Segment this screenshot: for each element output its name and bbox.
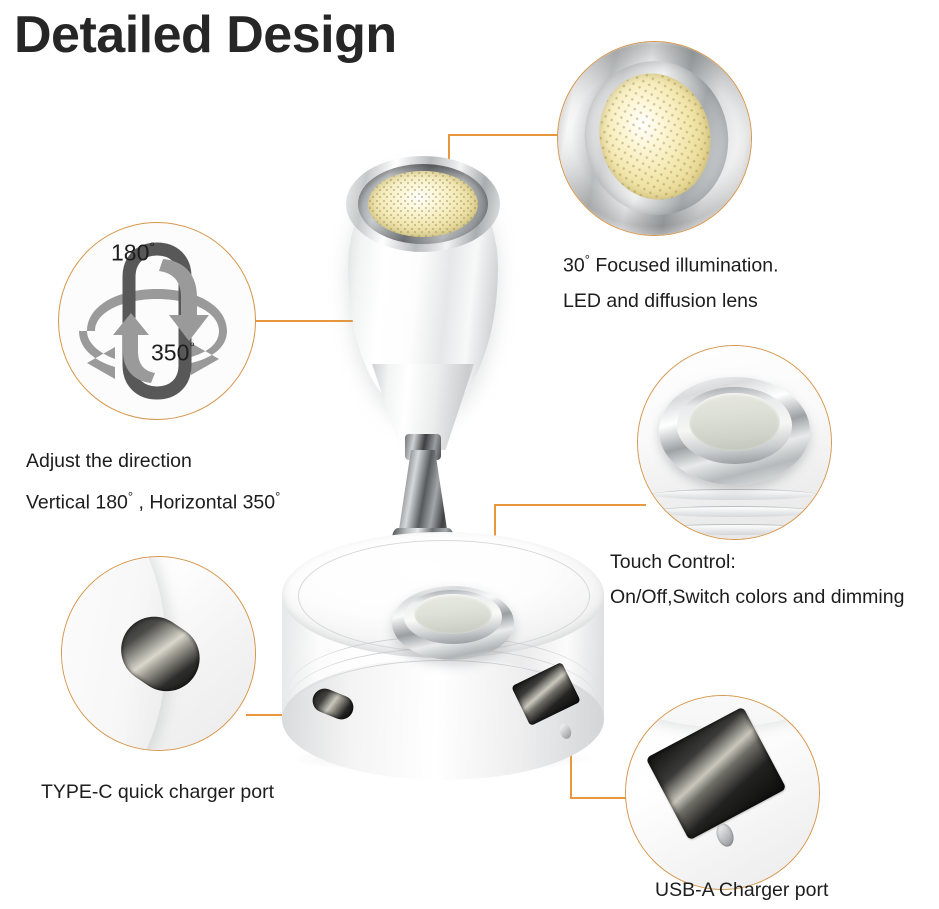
caption-led-lens-line2: LED and diffusion lens	[563, 284, 779, 319]
touch-closeup-groove-3	[653, 524, 815, 535]
touch-closeup-groove-1	[653, 489, 815, 500]
lamp-base	[282, 532, 604, 742]
rotation-axes-icon: 180° 350°	[59, 223, 255, 419]
caption-touch-line2: On/Off,Switch colors and dimming	[610, 580, 904, 615]
caption-led-lens: 30° Focused illumination. LED and diffus…	[563, 242, 779, 319]
caption-usb-a-line1: USB-A Charger port	[655, 873, 828, 908]
degree-symbol: °	[275, 489, 280, 504]
callout-circle-touch-control	[637, 345, 832, 540]
usb-c-port-closeup-icon	[62, 557, 255, 750]
touch-closeup-pad	[689, 393, 780, 451]
caption-rotation: Adjust the direction Vertical 180° , Hor…	[26, 444, 280, 521]
caption-usb-c: TYPE-C quick charger port	[41, 775, 274, 810]
callout-circle-usb-a	[625, 695, 820, 890]
swivel-neck	[398, 450, 448, 536]
usb-a-port-closeup-icon	[626, 696, 819, 889]
degree-symbol: °	[149, 239, 155, 255]
touch-button-pad	[414, 594, 492, 634]
page-title: Detailed Design	[14, 6, 397, 64]
caption-touch-control: Touch Control: On/Off,Switch colors and …	[610, 545, 904, 615]
caption-rotation-line2: Vertical 180° , Horizontal 350°	[26, 479, 280, 521]
leader-line-lens-horizontal	[448, 134, 572, 136]
honeycomb-pattern-icon	[368, 171, 478, 237]
degree-symbol: °	[189, 339, 195, 355]
infographic-canvas: Detailed Design	[0, 0, 939, 909]
rotation-arrows-svg	[59, 223, 255, 419]
rotation-label-horizontal: 350°	[151, 339, 195, 367]
caption-led-lens-line1: 30° Focused illumination.	[563, 242, 779, 284]
caption-usb-a: USB-A Charger port	[655, 873, 828, 908]
callout-circle-led-lens	[557, 41, 752, 236]
callout-circle-usb-c	[61, 556, 256, 751]
diffusion-lens	[368, 171, 478, 237]
led-lens-closeup-icon	[558, 42, 751, 235]
caption-touch-line1: Touch Control:	[610, 545, 904, 580]
touch-button-closeup-icon	[638, 346, 831, 539]
caption-usb-c-line1: TYPE-C quick charger port	[41, 775, 274, 810]
caption-rotation-line1: Adjust the direction	[26, 444, 280, 479]
rotation-label-vertical: 180°	[111, 239, 155, 267]
callout-circle-rotation: 180° 350°	[58, 222, 256, 420]
vertical-rotation-arrow-lower	[113, 313, 155, 383]
